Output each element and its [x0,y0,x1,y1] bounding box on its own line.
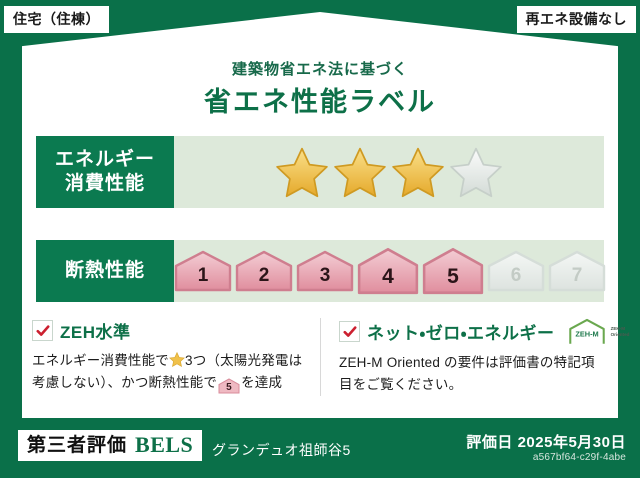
star-icon-2 [333,146,387,198]
zeh-criterion: ZEH水準 エネルギー消費性能で3つ（太陽光発電は考慮しない）、かつ断熱性能で5… [22,318,320,396]
zeh-checkbox[interactable] [32,320,53,341]
insulation-grade-value: 3 [320,265,331,292]
bels-certification-badge: 第三者評価 BELS [18,430,202,461]
star-icon-1 [275,146,329,198]
insulation-grade-value: 4 [382,265,394,295]
label-title: 省エネ性能ラベル [0,80,640,119]
svg-text:ZEH-M: ZEH-M [575,329,598,338]
property-name: グランデュオ祖師谷5 [212,440,351,460]
insulation-grade-scale: 1234567 [174,240,606,302]
insulation-grade-4: 4 [357,247,419,295]
evaluation-date-label: 評価日 [466,434,513,451]
insulation-performance-label-box: 断熱性能 [36,240,174,302]
building-type-tag: 住宅（住棟） [4,6,109,33]
insulation-grade-value: 5 [447,265,459,295]
inline-grade-badge-value: 5 [218,378,240,397]
evaluation-date: 評価日 2025年5月30日 [466,431,626,452]
zeh-criterion-description: エネルギー消費性能で3つ（太陽光発電は考慮しない）、かつ断熱性能で5を達成 [32,350,308,394]
insulation-grade-1: 1 [174,250,232,292]
zeh-text-part1: エネルギー消費性能で [32,353,169,368]
criteria-section: ZEH水準 エネルギー消費性能で3つ（太陽光発電は考慮しない）、かつ断熱性能で5… [22,318,618,396]
zeh-criterion-header: ZEH水準 [32,318,308,343]
star-icon-4 [449,146,503,198]
nze-criterion-title: ネット・ゼロ・エネルギー [367,319,555,344]
energy-performance-label: 住宅（住棟） 再エネ設備なし 建築物省エネ法に基づく 省エネ性能ラベル エネルギ… [0,0,640,478]
zeh-criterion-title: ZEH水準 [60,318,131,343]
insulation-grade-3: 3 [296,250,354,292]
evaluation-id: a567bf64-c29f-4abe [533,452,626,463]
energy-performance-label-line1: エネルギー [55,148,155,172]
zeh-m-house-icon: ZEH-M [566,318,608,345]
energy-performance-label-box: エネルギー 消費性能 [36,136,174,208]
zeh-text-part3: を達成 [241,375,282,390]
renewable-equipment-tag: 再エネ設備なし [517,6,637,33]
zeh-text-star-count: 3つ（太陽光発電 [185,353,289,368]
insulation-grade-2: 2 [235,250,293,292]
insulation-performance-row: 断熱性能 1234567 [36,240,604,302]
zeh-m-caption-line2: Oriented [611,332,630,338]
inline-star-icon [169,352,185,367]
insulation-grade-value: 6 [511,265,522,292]
nze-criterion-header: ネット・ゼロ・エネルギー ZEH-M ZEH-M Oriented [339,318,606,345]
inline-grade-badge: 5 [218,378,240,394]
insulation-grade-value: 7 [572,265,583,292]
nze-criterion: ネット・ゼロ・エネルギー ZEH-M ZEH-M Oriented ZEH-M … [320,318,618,396]
nze-checkbox[interactable] [339,321,360,342]
zeh-m-logo: ZEH-M ZEH-M Oriented [566,318,630,345]
label-subtitle: 建築物省エネ法に基づく [0,58,640,79]
insulation-grade-7: 7 [548,250,606,292]
star-icon-3 [391,146,445,198]
bels-wordmark: BELS [135,434,193,456]
insulation-grade-value: 2 [259,265,270,292]
label-footer: 第三者評価 BELS グランデュオ祖師谷5 評価日 2025年5月30日 a56… [0,418,640,478]
evaluation-date-value: 2025年5月30日 [518,434,626,451]
insulation-grade-6: 6 [487,250,545,292]
energy-star-rating [174,136,604,208]
check-icon [343,325,357,339]
zeh-m-logo-caption: ZEH-M Oriented [611,326,630,337]
nze-criterion-description: ZEH-M Oriented の要件は評価書の特記項目をご覧ください。 [339,352,606,396]
energy-performance-label-line2: 消費性能 [65,172,145,196]
energy-performance-row: エネルギー 消費性能 [36,136,604,208]
check-icon [36,324,50,338]
insulation-grade-5: 5 [422,247,484,295]
insulation-performance-label-line1: 断熱性能 [65,259,145,283]
insulation-grade-value: 1 [198,265,209,292]
third-party-evaluation-label: 第三者評価 [27,436,127,455]
